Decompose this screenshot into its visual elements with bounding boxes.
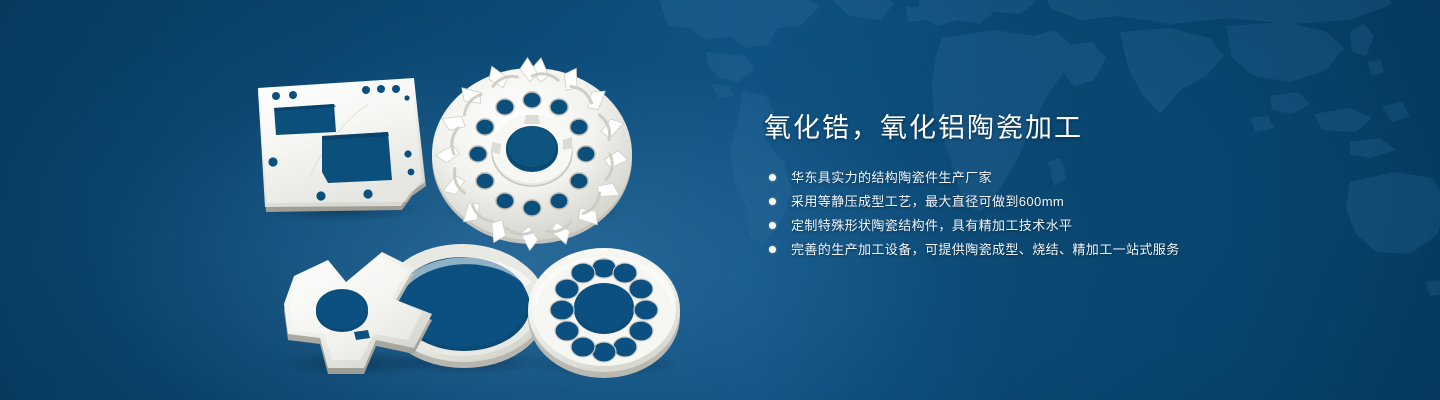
list-item: 定制特殊形状陶瓷结构件，具有精加工技术水平 bbox=[769, 218, 1324, 233]
list-item-label: 采用等静压成型工艺，最大直径可做到600mm bbox=[791, 194, 1064, 209]
list-item-label: 定制特殊形状陶瓷结构件，具有精加工技术水平 bbox=[791, 218, 1072, 233]
product-photo-cluster bbox=[236, 44, 706, 384]
promo-banner: 氧化锆，氧化铝陶瓷加工 华东具实力的结构陶瓷件生产厂家 采用等静压成型工艺，最大… bbox=[0, 0, 1440, 400]
list-item: 完善的生产加工设备，可提供陶瓷成型、烧结、精加工一站式服务 bbox=[769, 242, 1324, 257]
ceramic-hole-ring bbox=[528, 248, 680, 378]
bullet-dot-icon bbox=[769, 174, 776, 181]
ceramic-flat-plate bbox=[258, 78, 426, 212]
bullet-dot-icon bbox=[769, 246, 776, 253]
list-item-label: 完善的生产加工设备，可提供陶瓷成型、烧结、精加工一站式服务 bbox=[791, 242, 1180, 257]
list-item-label: 华东具实力的结构陶瓷件生产厂家 bbox=[791, 170, 992, 185]
feature-list: 华东具实力的结构陶瓷件生产厂家 采用等静压成型工艺，最大直径可做到600mm 定… bbox=[769, 170, 1324, 257]
list-item: 采用等静压成型工艺，最大直径可做到600mm bbox=[769, 194, 1324, 209]
bullet-dot-icon bbox=[769, 198, 776, 205]
list-item: 华东具实力的结构陶瓷件生产厂家 bbox=[769, 170, 1324, 185]
page-title: 氧化锆，氧化铝陶瓷加工 bbox=[764, 112, 1324, 144]
copy-block: 氧化锆，氧化铝陶瓷加工 华东具实力的结构陶瓷件生产厂家 采用等静压成型工艺，最大… bbox=[764, 112, 1324, 257]
bullet-dot-icon bbox=[769, 222, 776, 229]
